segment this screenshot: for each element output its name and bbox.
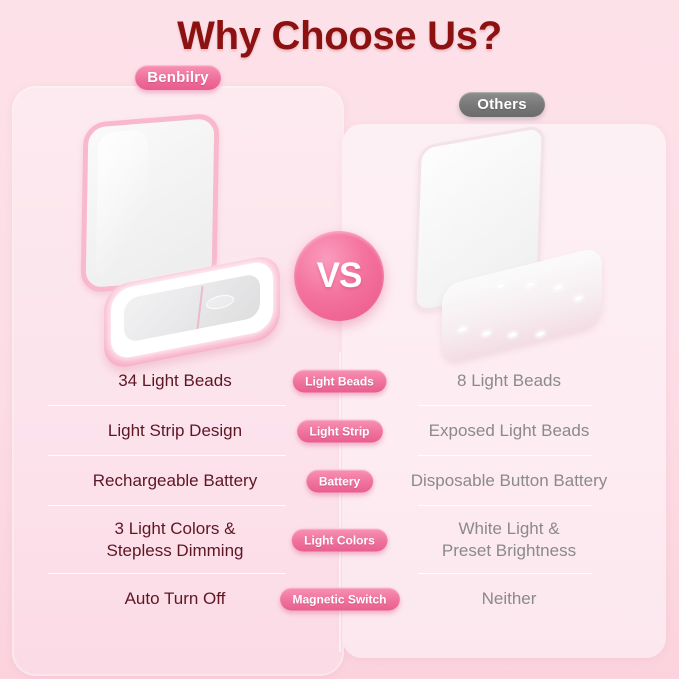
- comparison-row: Light Strip DesignLight StripExposed Lig…: [0, 406, 679, 456]
- others-feature-value: White Light &Preset Brightness: [364, 518, 654, 562]
- comparison-table: 34 Light BeadsLight Beads8 Light BeadsLi…: [0, 356, 679, 624]
- others-feature-value: Exposed Light Beads: [364, 420, 654, 442]
- comparison-row: 34 Light BeadsLight Beads8 Light Beads: [0, 356, 679, 406]
- feature-pill: Light Strip: [297, 420, 383, 443]
- touch-button-icon: [206, 293, 234, 311]
- others-feature-value: 8 Light Beads: [364, 370, 654, 392]
- brand-badge-others: Others: [459, 92, 545, 117]
- led-bead-icon: [536, 330, 545, 337]
- led-bead-icon: [508, 331, 517, 338]
- feature-pill: Light Colors: [291, 529, 388, 552]
- comparison-row: Rechargeable BatteryBatteryDisposable Bu…: [0, 456, 679, 506]
- feature-pill: Magnetic Switch: [279, 588, 399, 611]
- others-product-image: [414, 136, 614, 346]
- led-bead-icon: [496, 282, 505, 289]
- led-bead-icon: [554, 284, 563, 291]
- brand-badge-label: Benbilry: [147, 69, 209, 86]
- led-bead-icon: [458, 326, 467, 333]
- page-title: Why Choose Us?: [0, 14, 679, 59]
- mirror-seam: [196, 286, 203, 329]
- feature-pill: Light Beads: [292, 370, 387, 393]
- others-feature-value: Neither: [364, 588, 654, 610]
- comparison-row: Auto Turn OffMagnetic SwitchNeither: [0, 574, 679, 624]
- vs-badge: VS: [294, 231, 384, 321]
- benbilry-feature-value: Auto Turn Off: [30, 588, 320, 610]
- feature-pill: Battery: [306, 470, 373, 493]
- others-badge-label: Others: [477, 96, 527, 113]
- benbilry-product-image: [78, 118, 278, 348]
- vs-badge-label: VS: [317, 256, 362, 296]
- benbilry-feature-value: 3 Light Colors &Stepless Dimming: [30, 518, 320, 562]
- led-bead-icon: [574, 295, 583, 302]
- brand-badge-benbilry: Benbilry: [135, 65, 221, 90]
- mirror-lid: [81, 113, 220, 294]
- mirror-inner-face: [124, 273, 260, 343]
- benbilry-feature-value: Light Strip Design: [30, 420, 320, 442]
- benbilry-feature-value: 34 Light Beads: [30, 370, 320, 392]
- benbilry-feature-value: Rechargeable Battery: [30, 470, 320, 492]
- led-bead-icon: [526, 281, 535, 288]
- others-feature-value: Disposable Button Battery: [364, 470, 654, 492]
- led-bead-icon: [482, 330, 491, 337]
- comparison-row: 3 Light Colors &Stepless DimmingLight Co…: [0, 506, 679, 574]
